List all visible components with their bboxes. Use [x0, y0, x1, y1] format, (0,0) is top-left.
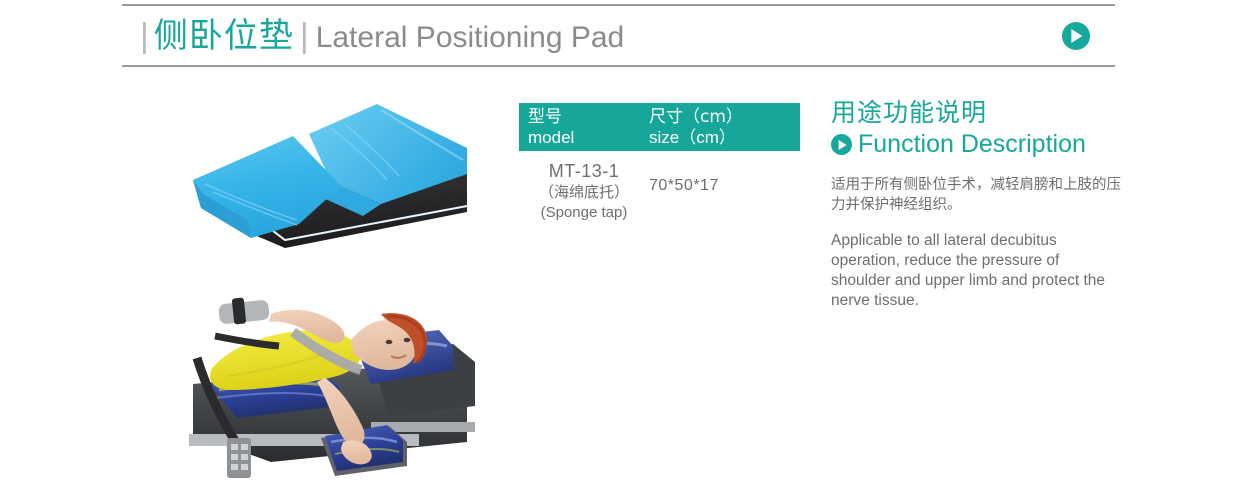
page-title: | 侧卧位垫 | Lateral Positioning Pad [140, 19, 1062, 53]
title-separator-right: | [300, 19, 309, 53]
clinical-usage-image [175, 266, 480, 481]
spec-model-code: MT-13-1 [519, 160, 649, 182]
spec-header-model-en: model [528, 127, 649, 148]
header-play-button[interactable] [1062, 22, 1090, 50]
function-title-cn: 用途功能说明 [831, 98, 1121, 128]
spec-header-size-en: size（cm） [649, 127, 800, 148]
specification-table: 型号 model 尺寸（cm） size（cm） MT-13-1 （海绵底托） … [519, 103, 800, 223]
table-row: MT-13-1 （海绵底托） (Sponge tap) 70*50*17 [519, 151, 800, 223]
spec-cell-model: MT-13-1 （海绵底托） (Sponge tap) [519, 160, 649, 223]
function-title-en-row: Function Description [831, 130, 1121, 159]
spec-table-header-row: 型号 model 尺寸（cm） size（cm） [519, 103, 800, 151]
spec-model-note-cn: （海绵底托） [519, 182, 649, 203]
spec-header-model: 型号 model [519, 107, 649, 148]
spec-header-size-cn: 尺寸（cm） [649, 107, 800, 127]
spec-header-size: 尺寸（cm） size（cm） [649, 107, 800, 148]
function-description-section: 用途功能说明 Function Description 适用于所有侧卧位手术，减… [831, 98, 1121, 327]
title-separator-left: | [140, 19, 149, 53]
product-image [181, 88, 481, 256]
spec-header-model-cn: 型号 [528, 107, 649, 127]
page-title-cn: 侧卧位垫 [154, 19, 294, 53]
play-circle-icon [1062, 22, 1090, 50]
product-image-graphic [181, 88, 481, 256]
function-paragraph-en: Applicable to all lateral decubitus oper… [831, 231, 1121, 311]
function-title-en: Function Description [858, 130, 1086, 159]
spec-model-note-en: (Sponge tap) [519, 203, 649, 223]
function-paragraph-cn: 适用于所有侧卧位手术，减轻肩膀和上肢的压力并保护神经组织。 [831, 175, 1121, 215]
clinical-usage-graphic [175, 266, 480, 481]
media-column [175, 88, 505, 486]
play-circle-icon [831, 134, 852, 155]
spec-cell-size: 70*50*17 [649, 160, 800, 223]
page-title-en: Lateral Positioning Pad [316, 23, 625, 53]
page-header: | 侧卧位垫 | Lateral Positioning Pad [122, 4, 1115, 67]
